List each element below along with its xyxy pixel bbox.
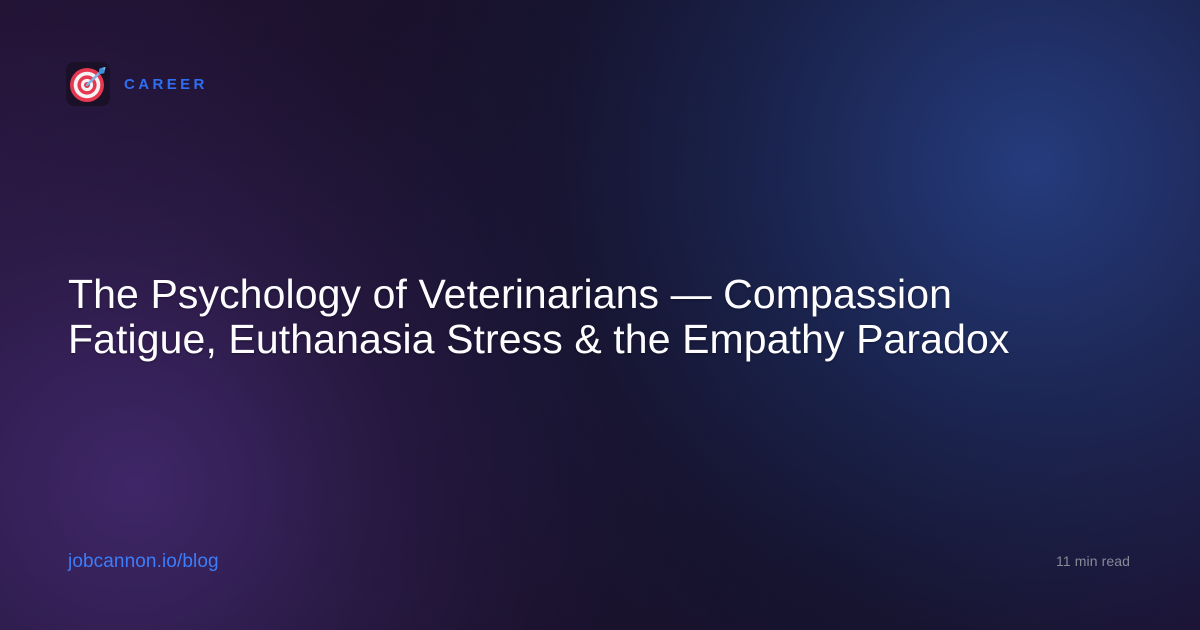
- site-url-link[interactable]: jobcannon.io/blog: [68, 552, 219, 571]
- target-dart-icon: [66, 62, 110, 106]
- page-title: The Psychology of Veterinarians — Compas…: [68, 272, 1068, 362]
- read-time-label: 11 min read: [1056, 554, 1130, 568]
- page-title-line-2: Fatigue, Euthanasia Stress & the Empathy…: [68, 317, 1068, 362]
- page-title-line-1: The Psychology of Veterinarians — Compas…: [68, 272, 1068, 317]
- card-footer: jobcannon.io/blog 11 min read: [0, 548, 1200, 574]
- brand-label: CAREER: [124, 77, 208, 92]
- og-card: CAREER The Psychology of Veterinarians —…: [0, 0, 1200, 630]
- brand: CAREER: [66, 60, 208, 108]
